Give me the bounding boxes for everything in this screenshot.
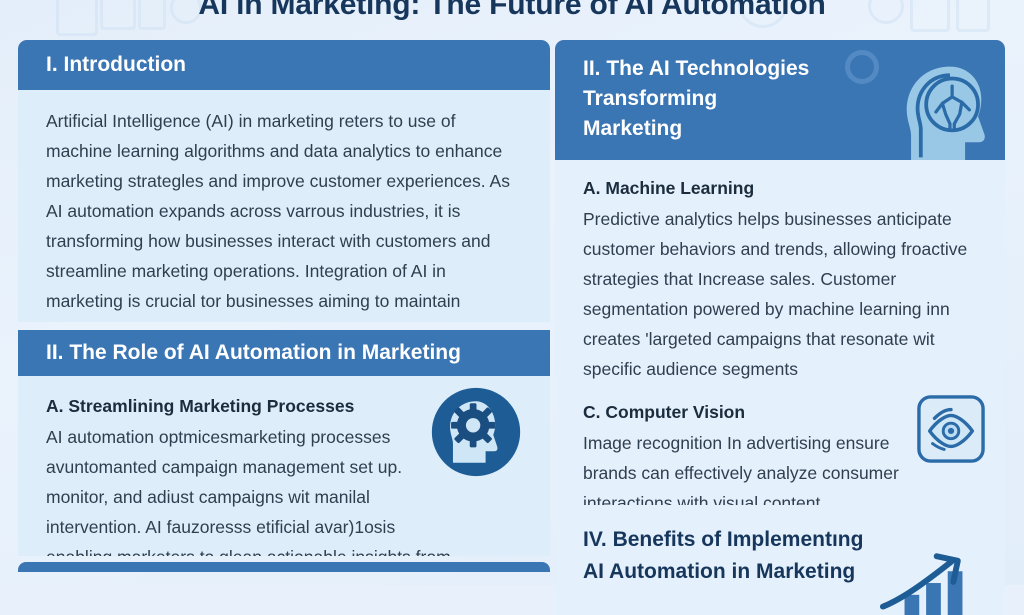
eye-icon — [917, 395, 985, 463]
head-gear-icon — [428, 384, 524, 480]
section-header-benefits: IV. Benefits of Implementıng AI Automati… — [555, 505, 1005, 615]
section-header-label-line2: Transforming — [583, 84, 1005, 114]
computer-vision-paragraph: Image recognition In advertising ensure … — [583, 428, 913, 505]
section-header-ai-technologies: II. The AI Technologies Transforming Mar… — [555, 40, 1005, 160]
section-header-role-of-ai-automation: II. The Role of AI Automation in Marketi… — [18, 330, 550, 376]
streamlining-paragraph: AI automation optmicesmarketing processe… — [46, 422, 464, 556]
section-body-ai-technologies: A. Machine Learning Predictive analytics… — [555, 160, 1005, 505]
machine-learning-paragraph: Predictive analytics helps businesses an… — [583, 204, 985, 384]
section-header-introduction: I. Introduction — [18, 40, 550, 90]
subsection-machine-learning: A. Machine Learning Predictive analytics… — [583, 174, 985, 384]
page-title: AI in Marketing: The Future of AI Automa… — [0, 0, 1024, 22]
subsection-heading-machine-learning: A. Machine Learning — [583, 174, 985, 202]
section-body-role-of-ai-automation: A. Streamlining Marketing Processes AI a… — [18, 376, 550, 556]
section-header-label-line3: Marketing — [583, 114, 1005, 144]
left-column: I. Introduction Artificial Intelligence … — [18, 40, 550, 572]
introduction-paragraph: Artificial Intelligence (AI) in marketin… — [46, 106, 526, 322]
right-column: II. The AI Technologies Transforming Mar… — [555, 40, 1005, 615]
section-header-label: I. Introduction — [46, 53, 186, 76]
section-body-introduction: Artificial Intelligence (AI) in marketin… — [18, 90, 550, 322]
section-header-label: II. The Role of AI Automation in Marketi… — [46, 341, 461, 364]
section-header-label-line1: II. The AI Technologies — [583, 54, 1005, 84]
section-header-next-truncated — [18, 562, 550, 572]
growth-chart-icon — [879, 549, 987, 615]
